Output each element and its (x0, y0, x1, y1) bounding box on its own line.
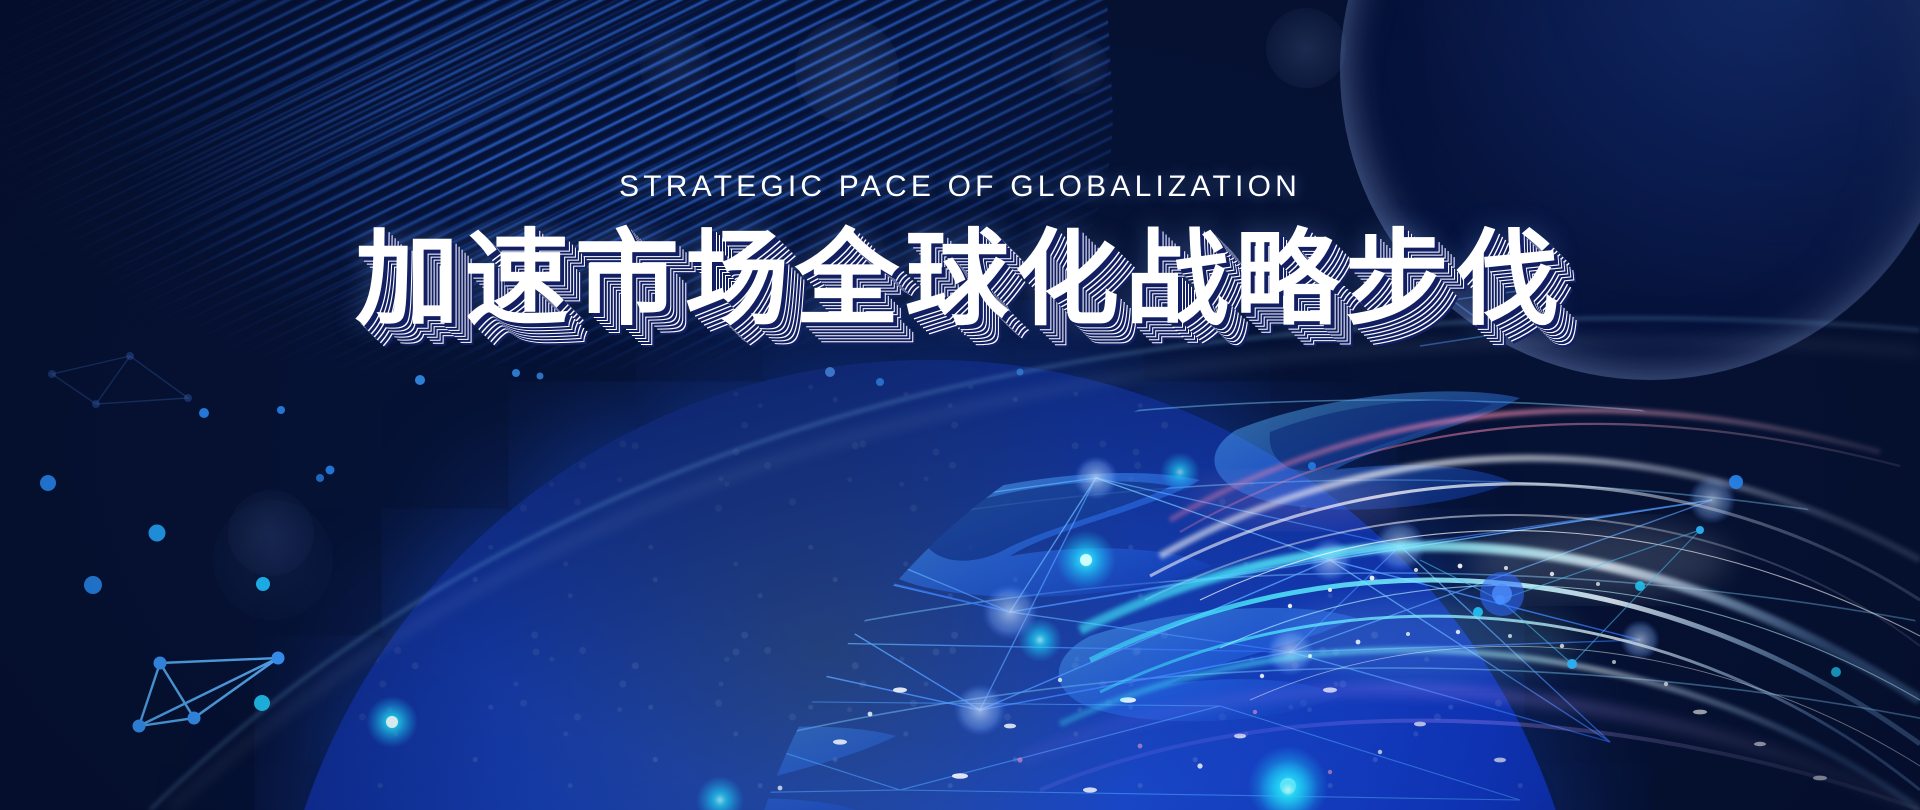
trail-dot-streak (1260, 564, 1827, 781)
headline-block: STRATEGIC PACE OF GLOBALIZATION 加速市场全球化战… (0, 170, 1920, 334)
trail-mesh-nodes (1495, 526, 1704, 669)
wireframe-polygon (139, 658, 278, 726)
globe-warm-sparkles (1017, 710, 1332, 774)
globe-network-mesh-lower (300, 700, 1520, 800)
globalization-banner: STRATEGIC PACE OF GLOBALIZATION 加速市场全球化战… (0, 0, 1920, 810)
trail-mesh (1420, 530, 1700, 664)
globe-sparkles (614, 678, 1506, 793)
banner-headline: 加速市场全球化战略步伐 (355, 226, 1565, 334)
glow-points (366, 618, 1318, 810)
wireframe-polygon-nodes (133, 652, 285, 733)
banner-subtitle: STRATEGIC PACE OF GLOBALIZATION (0, 170, 1920, 204)
trail-mesh-node-large (1480, 572, 1524, 616)
light-trails (1020, 411, 1920, 810)
bokeh-circle (1266, 8, 1346, 88)
